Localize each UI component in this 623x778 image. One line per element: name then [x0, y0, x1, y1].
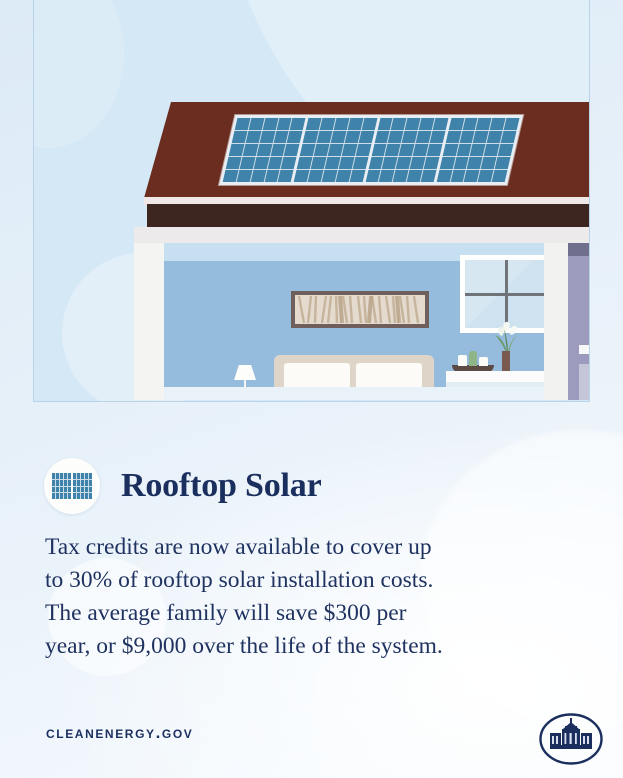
solar-panel-icon: [44, 458, 100, 514]
badge-solar-cell: [68, 493, 71, 499]
bowl-object: [458, 355, 467, 366]
rooftop-solar-illustration: [33, 0, 590, 402]
badge-solar-cell: [60, 480, 63, 486]
body-copy-line: Tax credits are now available to cover u…: [45, 531, 565, 564]
cabinet-body: [579, 364, 590, 400]
house-interior-room: [164, 243, 544, 400]
badge-solar-cell: [73, 473, 76, 479]
rooftop-solar-array: [219, 115, 523, 185]
solar-panel: [436, 118, 519, 182]
white-house-seal-icon: [538, 712, 604, 766]
solar-cell: [278, 170, 294, 182]
badge-solar-cell: [64, 473, 67, 479]
solar-cell: [287, 131, 303, 143]
badge-solar-cell: [68, 473, 71, 479]
solar-panel: [294, 118, 377, 182]
solar-cell: [421, 170, 437, 182]
body-copy-line: year, or $9,000 over the life of the sys…: [45, 630, 565, 663]
partition-wall-purple-top: [568, 243, 590, 256]
badge-solar-cell: [81, 493, 84, 499]
badge-solar-cell: [85, 480, 88, 486]
badge-solar-cell: [52, 473, 55, 479]
page-title: Rooftop Solar: [121, 467, 321, 505]
solar-badge-grid: [52, 473, 92, 499]
badge-solar-panel: [73, 473, 92, 499]
badge-solar-cell: [60, 493, 63, 499]
house-left-wall: [134, 243, 164, 400]
headline-row: Rooftop Solar: [44, 458, 321, 514]
solar-cell: [427, 144, 443, 156]
window-mullion-horizontal: [465, 293, 544, 296]
body-copy: Tax credits are now available to cover u…: [45, 531, 565, 663]
potted-plant-icon: [489, 321, 525, 355]
solar-cell: [504, 118, 520, 130]
footer-brand-cleanenergy-gov[interactable]: CleanEnergy.Gov: [46, 723, 193, 743]
badge-solar-cell: [77, 480, 80, 486]
artwork-strokes-icon: [295, 295, 425, 324]
badge-solar-panel: [52, 473, 71, 499]
solar-cell: [349, 170, 365, 182]
badge-solar-cell: [81, 473, 84, 479]
window-glass: [465, 260, 544, 328]
table-lamp-icon: [232, 365, 258, 389]
badge-solar-cell: [81, 480, 84, 486]
badge-solar-cell: [77, 487, 80, 493]
solar-cell: [358, 131, 374, 143]
framed-artwork: [291, 291, 429, 328]
badge-solar-cell: [68, 487, 71, 493]
solar-panel: [223, 118, 306, 182]
badge-solar-cell: [52, 487, 55, 493]
plant-vase: [502, 351, 510, 372]
body-copy-line: The average family will save $300 per: [45, 597, 565, 630]
solar-cell: [430, 131, 446, 143]
solar-cell: [498, 144, 514, 156]
badge-solar-cell: [77, 473, 80, 479]
badge-solar-cell: [64, 487, 67, 493]
badge-solar-cell: [56, 487, 59, 493]
house-soffit: [134, 227, 590, 243]
artwork-canvas: [295, 295, 425, 324]
roof-fascia-band: [147, 204, 590, 228]
bowl-object: [469, 351, 477, 366]
badge-solar-cell: [81, 487, 84, 493]
solar-panel: [365, 118, 448, 182]
plant-leaves-icon: [489, 321, 525, 355]
badge-solar-cell: [52, 480, 55, 486]
solar-cell: [501, 131, 517, 143]
console-table: [446, 371, 544, 382]
white-house-seal-svg: [538, 712, 604, 766]
solar-cell: [352, 157, 368, 169]
bowl-object: [479, 357, 488, 366]
pillow: [356, 363, 422, 388]
body-copy-line: to 30% of rooftop solar installation cos…: [45, 564, 565, 597]
badge-solar-cell: [73, 487, 76, 493]
solar-cell: [361, 118, 377, 130]
badge-solar-cell: [89, 493, 92, 499]
badge-solar-cell: [89, 473, 92, 479]
cabinet-top: [579, 345, 590, 354]
badge-solar-cell: [85, 493, 88, 499]
sky-circle-topleft-shape: [33, 0, 124, 148]
badge-solar-cell: [89, 487, 92, 493]
badge-solar-cell: [56, 473, 59, 479]
pillow: [284, 363, 350, 388]
badge-solar-cell: [68, 480, 71, 486]
badge-solar-cell: [60, 473, 63, 479]
solar-cell: [424, 157, 440, 169]
badge-solar-cell: [85, 473, 88, 479]
interior-floor: [164, 387, 544, 400]
badge-solar-cell: [73, 493, 76, 499]
badge-solar-cell: [64, 480, 67, 486]
badge-solar-cell: [64, 493, 67, 499]
badge-solar-cell: [77, 493, 80, 499]
badge-solar-cell: [60, 487, 63, 493]
badge-solar-cell: [56, 493, 59, 499]
solar-cell: [355, 144, 371, 156]
solar-cell: [284, 144, 300, 156]
badge-solar-cell: [56, 480, 59, 486]
solar-cell: [281, 157, 297, 169]
badge-solar-cell: [73, 480, 76, 486]
solar-cell: [495, 157, 511, 169]
solar-cell: [492, 170, 508, 182]
badge-solar-cell: [85, 487, 88, 493]
solar-cell: [290, 118, 306, 130]
partition-wall-white: [544, 243, 568, 400]
badge-solar-cell: [89, 480, 92, 486]
lamp-shade: [234, 365, 256, 380]
solar-cell: [433, 118, 449, 130]
badge-solar-cell: [52, 493, 55, 499]
infographic-card: Rooftop Solar Tax credits are now availa…: [0, 0, 623, 778]
